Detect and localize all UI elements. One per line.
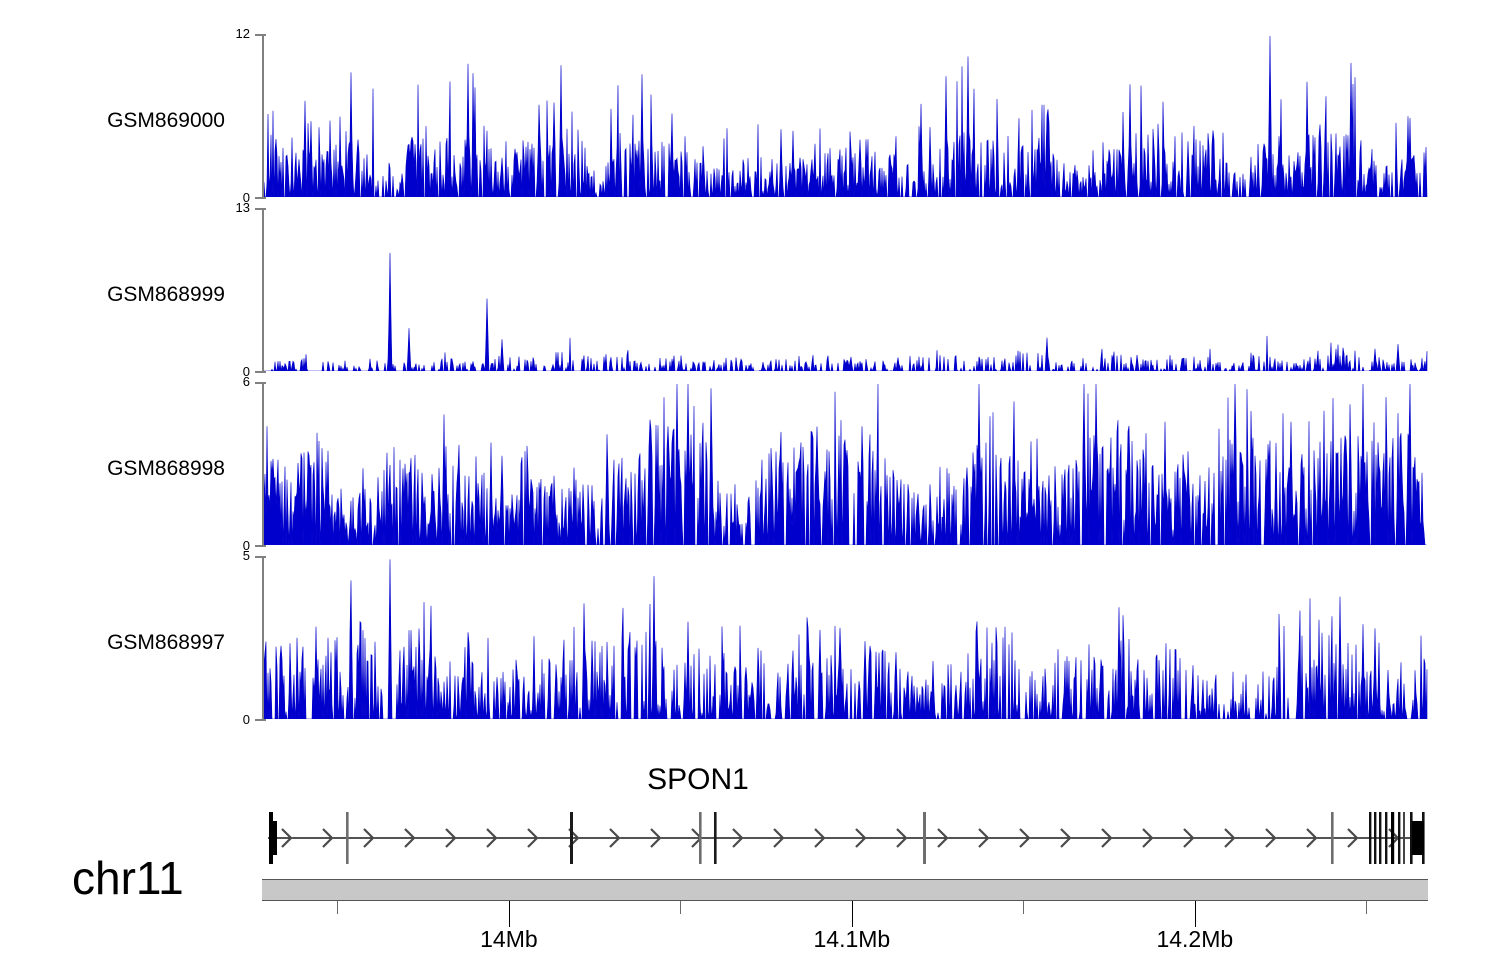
gene-name-label: SPON1 bbox=[0, 765, 1500, 795]
coverage-track-gsm868998: GSM868998 6 0 bbox=[0, 382, 1500, 545]
y-axis-min-label: 0 bbox=[243, 713, 250, 726]
ruler-tick-minor bbox=[1366, 901, 1367, 914]
coordinate-ruler: 14Mb14.1Mb14.2Mb bbox=[262, 901, 1428, 976]
track-label: GSM868997 bbox=[107, 632, 225, 653]
coverage-area bbox=[264, 556, 1428, 719]
ruler-tick-label: 14.2Mb bbox=[1156, 928, 1233, 951]
y-axis-max-label: 5 bbox=[243, 549, 250, 562]
y-axis-max-label: 6 bbox=[243, 375, 250, 388]
axis-cap-bottom bbox=[255, 197, 266, 199]
coverage-track-gsm868999: GSM868999 13 0 bbox=[0, 208, 1500, 371]
coverage-area bbox=[264, 34, 1428, 197]
track-label: GSM869000 bbox=[107, 110, 225, 131]
axis-cap-bottom bbox=[255, 719, 266, 721]
coverage-plot bbox=[264, 556, 1428, 719]
ruler-tick-major bbox=[509, 901, 510, 927]
ruler-tick-minor bbox=[337, 901, 338, 914]
coverage-plot bbox=[264, 382, 1428, 545]
coverage-area bbox=[264, 208, 1428, 371]
ruler-tick-minor bbox=[680, 901, 681, 914]
track-label: GSM868998 bbox=[107, 458, 225, 479]
coverage-track-gsm869000: GSM869000 12 0 bbox=[0, 34, 1500, 197]
gene-model[interactable] bbox=[262, 800, 1428, 875]
ruler-tick-major bbox=[1195, 901, 1196, 927]
coverage-track-gsm868997: GSM868997 5 0 bbox=[0, 556, 1500, 719]
track-label: GSM868999 bbox=[107, 284, 225, 305]
ideogram-bar[interactable] bbox=[262, 879, 1428, 901]
y-axis-max-label: 13 bbox=[236, 201, 250, 214]
coverage-area bbox=[264, 382, 1428, 545]
coverage-plot bbox=[264, 208, 1428, 371]
axis-cap-bottom bbox=[255, 545, 266, 547]
gene-model-glyph bbox=[262, 800, 1428, 875]
ruler-tick-minor bbox=[1023, 901, 1024, 914]
y-axis-max-label: 12 bbox=[236, 27, 250, 40]
coverage-plot bbox=[264, 34, 1428, 197]
ruler-tick-major bbox=[852, 901, 853, 927]
ruler-tick-label: 14.1Mb bbox=[813, 928, 890, 951]
genome-browser-figure: GSM869000 12 0 GSM868999 13 0 GSM868998 … bbox=[0, 0, 1500, 980]
chromosome-label: chr11 bbox=[72, 855, 184, 901]
axis-cap-bottom bbox=[255, 371, 266, 373]
ruler-tick-label: 14Mb bbox=[480, 928, 538, 951]
